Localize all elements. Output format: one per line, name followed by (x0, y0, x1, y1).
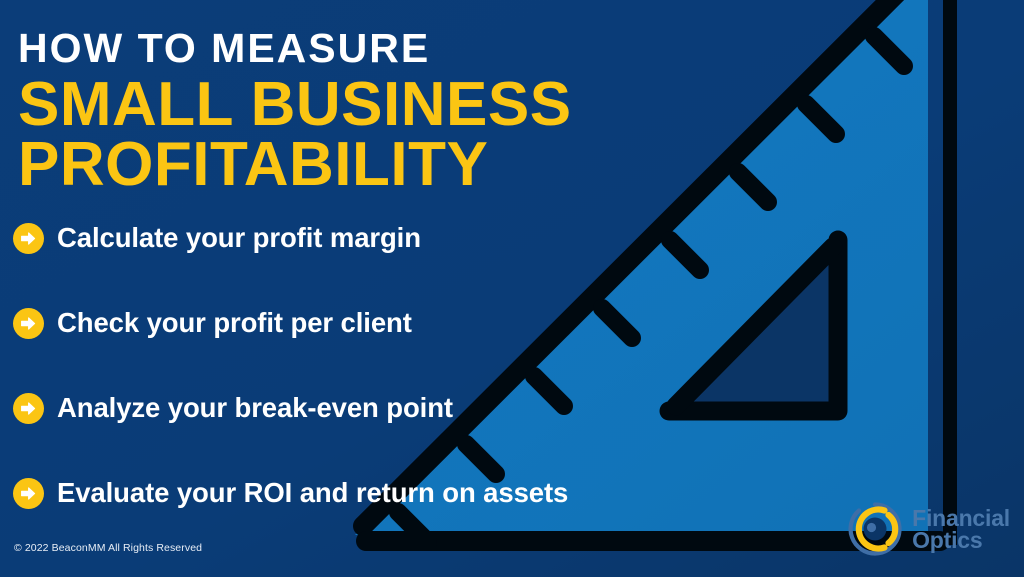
title-line-1: SMALL BUSINESS (18, 70, 572, 139)
title-kicker: HOW TO MEASURE (18, 28, 678, 69)
brand-logo-wordmark: Financial Optics (912, 507, 1010, 552)
list-item: Check your profit per client (13, 300, 1013, 347)
list-item-label: Evaluate your ROI and return on assets (57, 478, 568, 508)
title-line-2: PROFITABILITY (18, 135, 678, 195)
copyright-notice: © 2022 BeaconMM All Rights Reserved (14, 542, 202, 554)
title-main: SMALL BUSINESS PROFITABILITY (18, 75, 678, 194)
list-item-label: Analyze your break-even point (57, 393, 453, 423)
list-item-label: Calculate your profit margin (57, 223, 421, 253)
brand-name-line-2: Optics (912, 529, 1010, 551)
arrow-right-circle-icon (13, 393, 44, 424)
page-title: HOW TO MEASURE SMALL BUSINESS PROFITABIL… (18, 28, 678, 194)
infographic-poster: HOW TO MEASURE SMALL BUSINESS PROFITABIL… (0, 0, 1024, 577)
list-item: Calculate your profit margin (13, 215, 1013, 262)
brand-name-line-1: Financial (912, 507, 1010, 529)
list-item: Analyze your break-even point (13, 385, 1013, 432)
arrow-right-circle-icon (13, 308, 44, 339)
brand-logo: Financial Optics (846, 500, 1010, 558)
content-layer: HOW TO MEASURE SMALL BUSINESS PROFITABIL… (0, 0, 1024, 577)
arrow-right-circle-icon (13, 223, 44, 254)
arrow-right-circle-icon (13, 478, 44, 509)
aperture-lens-icon (846, 500, 904, 558)
list-item-label: Check your profit per client (57, 308, 412, 338)
